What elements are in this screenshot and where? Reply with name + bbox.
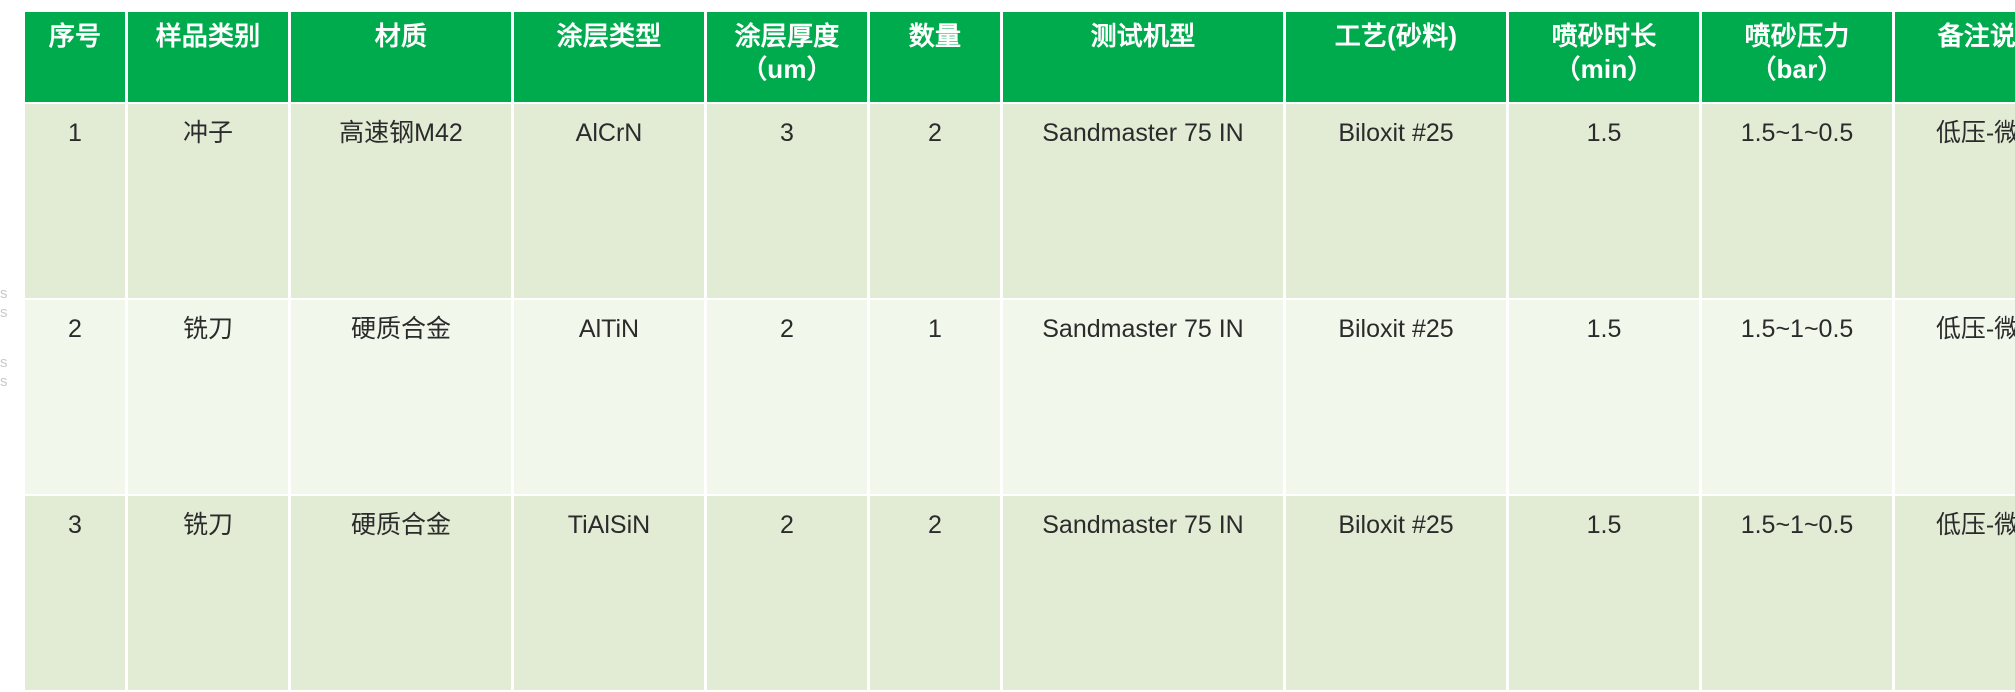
cell-material: 高速钢M42 — [291, 104, 511, 298]
table-body: 1 冲子 高速钢M42 AlCrN 3 2 Sandmaster 75 IN B… — [25, 104, 2015, 690]
cell-sample-type: 铣刀 — [128, 496, 288, 690]
cell-seq: 3 — [25, 496, 125, 690]
column-header-test-machine: 测试机型 — [1003, 12, 1283, 102]
cell-process-sand: Biloxit #25 — [1286, 300, 1506, 494]
column-header-blast-time: 喷砂时长 （min） — [1509, 12, 1699, 102]
cell-coating-thickness: 2 — [707, 496, 867, 690]
table-row: 2 铣刀 硬质合金 AlTiN 2 1 Sandmaster 75 IN Bil… — [25, 300, 2015, 494]
column-header-seq: 序号 — [25, 12, 125, 102]
spec-table-container: 序号 样品类别 材质 涂层类型 涂层厚度 （um） 数量 测试机型 工艺(砂料)… — [22, 10, 1994, 692]
cell-coating-type: TiAlSiN — [514, 496, 704, 690]
cell-remarks: 低压-微压 — [1895, 496, 2015, 690]
cell-quantity: 2 — [870, 496, 1000, 690]
column-header-quantity: 数量 — [870, 12, 1000, 102]
cell-quantity: 2 — [870, 104, 1000, 298]
header-row: 序号 样品类别 材质 涂层类型 涂层厚度 （um） 数量 测试机型 工艺(砂料)… — [25, 12, 2015, 102]
cell-coating-thickness: 2 — [707, 300, 867, 494]
cell-blast-time: 1.5 — [1509, 496, 1699, 690]
cell-coating-type: AlCrN — [514, 104, 704, 298]
cell-blast-pressure: 1.5~1~0.5 — [1702, 496, 1892, 690]
cell-test-machine: Sandmaster 75 IN — [1003, 300, 1283, 494]
edge-artifact-glyph: s — [0, 375, 8, 389]
edge-artifact-glyph: s — [0, 356, 8, 370]
cell-test-machine: Sandmaster 75 IN — [1003, 496, 1283, 690]
cell-blast-pressure: 1.5~1~0.5 — [1702, 300, 1892, 494]
cell-remarks: 低压-微压 — [1895, 300, 2015, 494]
table-header: 序号 样品类别 材质 涂层类型 涂层厚度 （um） 数量 测试机型 工艺(砂料)… — [25, 12, 2015, 102]
cell-test-machine: Sandmaster 75 IN — [1003, 104, 1283, 298]
cell-seq: 2 — [25, 300, 125, 494]
column-header-sample-type: 样品类别 — [128, 12, 288, 102]
cell-seq: 1 — [25, 104, 125, 298]
cell-process-sand: Biloxit #25 — [1286, 496, 1506, 690]
column-header-remarks: 备注说明 — [1895, 12, 2015, 102]
table-row: 1 冲子 高速钢M42 AlCrN 3 2 Sandmaster 75 IN B… — [25, 104, 2015, 298]
cell-remarks: 低压-微压 — [1895, 104, 2015, 298]
table-row: 3 铣刀 硬质合金 TiAlSiN 2 2 Sandmaster 75 IN B… — [25, 496, 2015, 690]
cell-blast-pressure: 1.5~1~0.5 — [1702, 104, 1892, 298]
cell-sample-type: 冲子 — [128, 104, 288, 298]
edge-artifact-glyph: s — [0, 306, 8, 320]
sample-spec-table: 序号 样品类别 材质 涂层类型 涂层厚度 （um） 数量 测试机型 工艺(砂料)… — [22, 10, 2015, 692]
cell-blast-time: 1.5 — [1509, 300, 1699, 494]
column-header-process-sand: 工艺(砂料) — [1286, 12, 1506, 102]
cell-coating-thickness: 3 — [707, 104, 867, 298]
cell-material: 硬质合金 — [291, 300, 511, 494]
cell-quantity: 1 — [870, 300, 1000, 494]
cell-process-sand: Biloxit #25 — [1286, 104, 1506, 298]
cell-sample-type: 铣刀 — [128, 300, 288, 494]
column-header-coating-thickness: 涂层厚度 （um） — [707, 12, 867, 102]
cell-material: 硬质合金 — [291, 496, 511, 690]
cell-blast-time: 1.5 — [1509, 104, 1699, 298]
edge-artifact-glyph: s — [0, 287, 8, 301]
cell-coating-type: AlTiN — [514, 300, 704, 494]
column-header-material: 材质 — [291, 12, 511, 102]
column-header-blast-pressure: 喷砂压力 （bar） — [1702, 12, 1892, 102]
column-header-coating-type: 涂层类型 — [514, 12, 704, 102]
